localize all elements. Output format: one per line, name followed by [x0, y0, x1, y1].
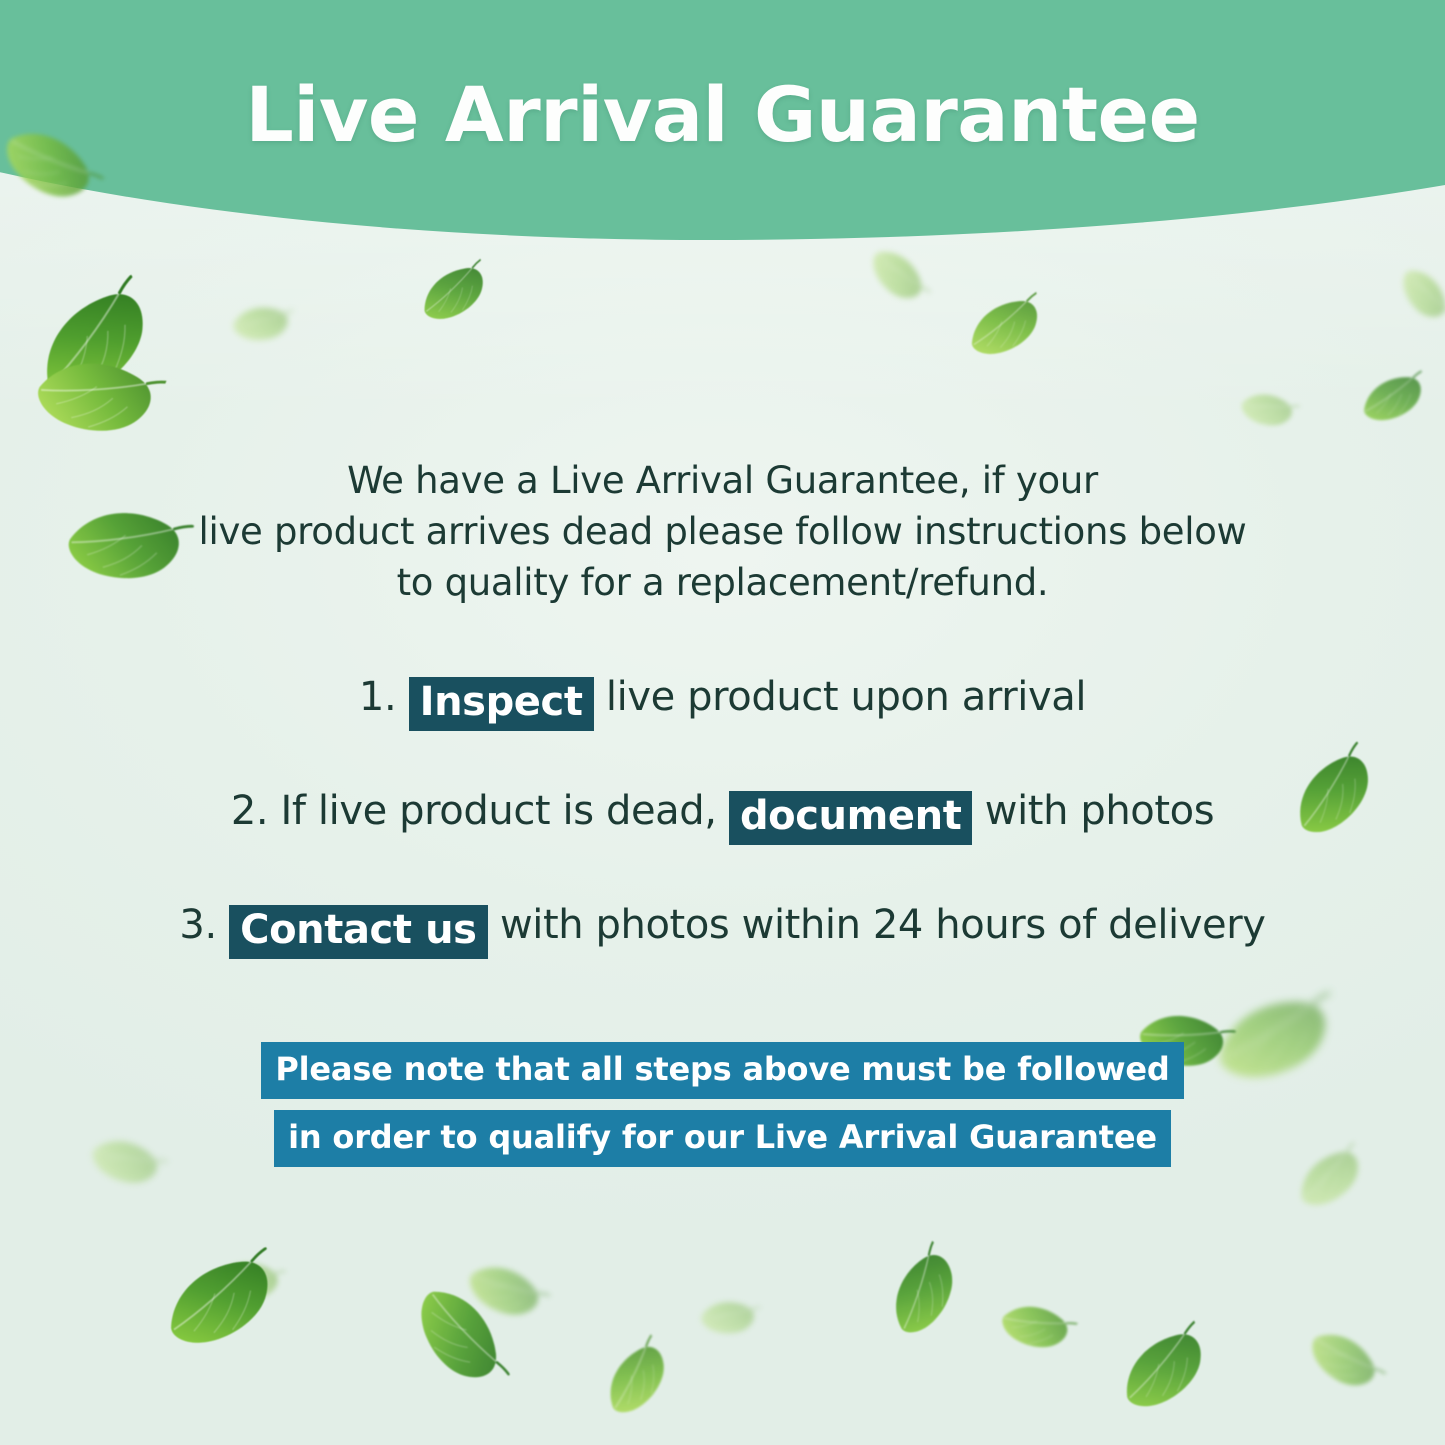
step-3-post-text: with photos within 24 hours of delivery: [500, 902, 1266, 948]
step-1-highlight: Inspect: [409, 677, 594, 731]
leaf-icon: [23, 336, 166, 460]
main-content: We have a Live Arrival Guarantee, if you…: [0, 455, 1445, 1167]
step-2-post-text: with photos: [985, 788, 1214, 834]
leaf-icon: [1377, 253, 1445, 334]
leaf-icon: [209, 1247, 286, 1316]
step-item-1: 1. Inspect live product upon arrival: [0, 672, 1445, 726]
leaf-icon: [1234, 380, 1300, 441]
leaf-icon: [1106, 1320, 1222, 1423]
step-2-pre-text: If live product is dead,: [281, 788, 717, 834]
leaf-icon: [991, 1286, 1079, 1368]
leaf-icon: [870, 1240, 977, 1348]
step-1-number: 1.: [359, 674, 396, 720]
intro-line-1: We have a Live Arrival Guarantee, if you…: [120, 455, 1325, 506]
leaf-icon: [151, 1247, 289, 1359]
leaf-icon: [412, 258, 497, 330]
step-item-3: 3. Contact us with photos within 24 hour…: [0, 900, 1445, 954]
leaf-icon: [960, 291, 1049, 364]
leaf-icon: [225, 280, 298, 368]
intro-line-2: live product arrives dead please follow …: [120, 506, 1325, 557]
step-item-2: 2. If live product is dead, document wit…: [0, 786, 1445, 840]
leaf-icon: [406, 1270, 511, 1399]
leaf-icon: [456, 1244, 552, 1337]
leaf-icon: [844, 227, 949, 322]
step-2-number: 2.: [231, 788, 268, 834]
leaf-icon: [16, 275, 173, 415]
steps-list: 1. Inspect live product upon arrival 2. …: [0, 672, 1445, 954]
leaf-icon: [588, 1332, 686, 1427]
note-line-2: in order to qualify for our Live Arrival…: [274, 1110, 1171, 1167]
note-block: Please note that all steps above must be…: [0, 1042, 1445, 1167]
step-3-number: 3.: [179, 902, 216, 948]
step-3-highlight: Contact us: [229, 905, 487, 959]
intro-line-3: to quality for a replacement/refund.: [120, 557, 1325, 608]
leaf-icon: [1298, 1314, 1388, 1407]
intro-paragraph: We have a Live Arrival Guarantee, if you…: [0, 455, 1445, 608]
page-title: Live Arrival Guarantee: [0, 70, 1445, 159]
leaf-icon: [1356, 370, 1429, 429]
note-line-1: Please note that all steps above must be…: [261, 1042, 1183, 1099]
step-1-post-text: live product upon arrival: [606, 674, 1086, 720]
step-2-highlight: document: [729, 791, 973, 845]
leaf-icon: [695, 1289, 761, 1347]
live-arrival-guarantee-poster: Live Arrival Guarantee We have a Live Ar…: [0, 0, 1445, 1445]
